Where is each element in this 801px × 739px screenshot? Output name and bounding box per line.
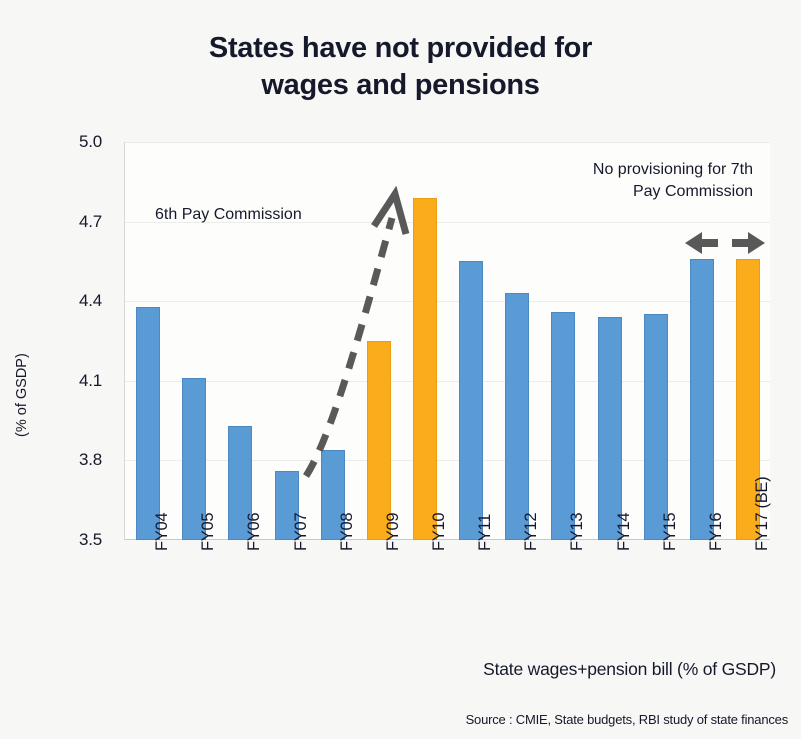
x-axis-tick-label: FY14	[615, 513, 634, 551]
bar-fy15[interactable]	[644, 314, 668, 540]
x-axis-tick-label: FY12	[522, 513, 541, 551]
left-right-arrows-icon	[682, 228, 768, 258]
x-axis-tick-label: FY05	[199, 513, 218, 551]
x-axis-tick-label: FY09	[384, 513, 403, 551]
y-axis-tick-label: 3.5	[79, 530, 102, 550]
y-axis-tick-label: 3.8	[79, 450, 102, 470]
annotation-6th-pay-commission: 6th Pay Commission	[155, 204, 302, 226]
y-axis-tick-label: 4.7	[79, 212, 102, 232]
x-axis-tick-label: FY13	[568, 513, 587, 551]
page-title: States have not provided for wages and p…	[0, 30, 801, 104]
x-axis-tick-label: FY16	[707, 513, 726, 551]
x-axis-tick-label: FY11	[476, 514, 495, 551]
x-axis-tick-label: FY08	[338, 513, 357, 551]
x-axis: FY04FY05FY06FY07FY08FY09FY10FY11FY12FY13…	[124, 545, 770, 655]
x-axis-tick-label: FY07	[292, 513, 311, 551]
y-axis-tick-label: 5.0	[79, 132, 102, 152]
x-axis-tick-label: FY15	[661, 513, 680, 551]
x-axis-title: State wages+pension bill (% of GSDP)	[0, 659, 776, 680]
bar-fy04[interactable]	[136, 307, 160, 540]
y-axis: (% of GSDP) 5.04.74.44.13.83.5	[0, 142, 110, 540]
x-axis-tick-label: FY10	[430, 513, 449, 551]
bar-fy12[interactable]	[505, 293, 529, 540]
y-axis-tick-label: 4.4	[79, 291, 102, 311]
y-axis-title: (% of GSDP)	[14, 353, 30, 437]
x-axis-tick-label: FY06	[245, 513, 264, 551]
bar-fy11[interactable]	[459, 261, 483, 540]
annotation-7th-pay-commission: No provisioning for 7th Pay Commission	[500, 159, 753, 202]
bar-fy13[interactable]	[551, 312, 575, 540]
dashed-up-arrow-icon	[292, 186, 422, 481]
x-axis-tick-label: FY04	[153, 513, 172, 551]
x-axis-tick-label: FY17 (BE)	[753, 477, 772, 551]
bar-fy14[interactable]	[598, 317, 622, 540]
bar-fy16[interactable]	[690, 259, 714, 540]
y-axis-tick-label: 4.1	[79, 371, 102, 391]
source-note: Source : CMIE, State budgets, RBI study …	[0, 712, 788, 727]
